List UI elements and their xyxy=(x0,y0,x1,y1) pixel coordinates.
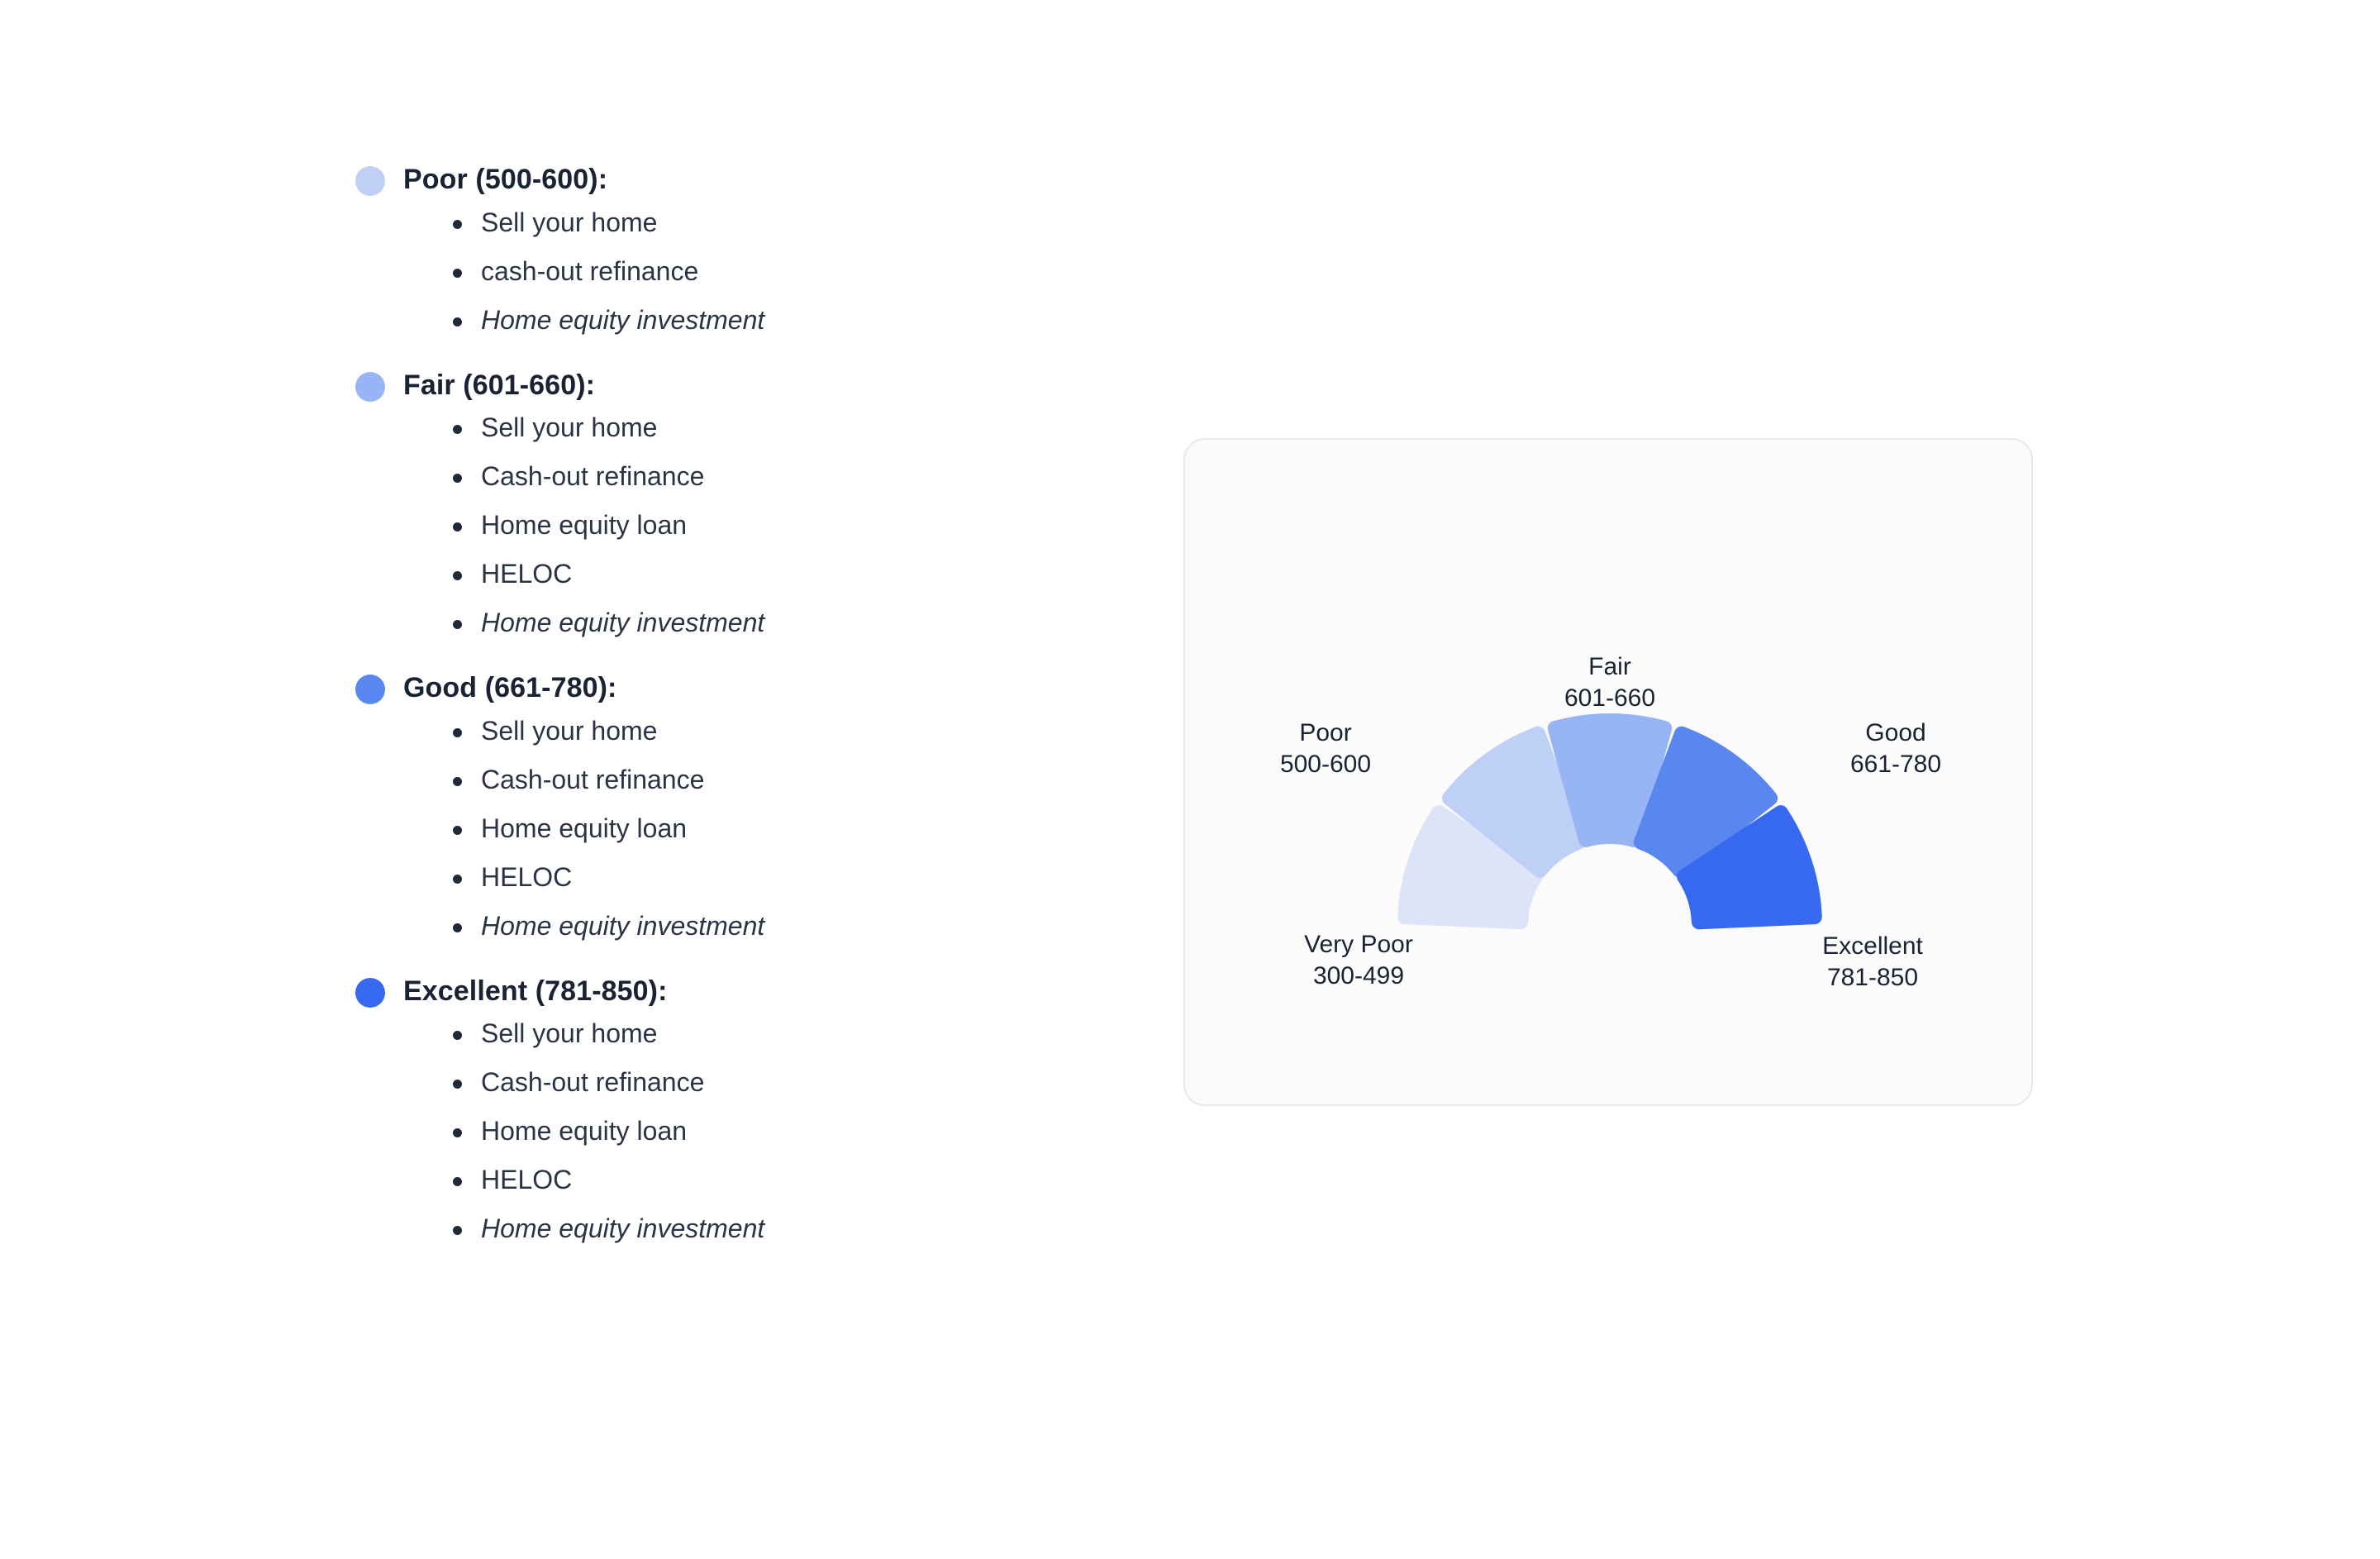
gauge-label-good: Good 661-780 xyxy=(1772,718,2020,781)
list-item: HELOC xyxy=(453,1166,1099,1193)
list-item: Sell your home xyxy=(453,209,1099,236)
list-item: Cash-out refinance xyxy=(453,766,1099,793)
list-item: Home equity loan xyxy=(453,512,1099,538)
credit-tier-recommendation-list: Poor (500-600):Sell your homecash-out re… xyxy=(355,162,1099,1242)
tier-option-list-excellent: Sell your homeCash-out refinanceHome equ… xyxy=(355,1020,1099,1242)
gauge-label-fair-name: Fair xyxy=(1588,653,1631,680)
tier-title-poor: Poor (500-600): xyxy=(403,162,607,198)
list-item: cash-out refinance xyxy=(453,258,1099,284)
gauge-label-excellent-name: Excellent xyxy=(1822,932,1923,960)
list-item: Cash-out refinance xyxy=(453,463,1099,489)
tier-header-good: Good (661-780): xyxy=(355,670,1099,706)
tier-title-fair: Fair (601-660): xyxy=(403,368,595,403)
list-item: Home equity investment xyxy=(453,1215,1099,1242)
gauge-label-very-poor-name: Very Poor xyxy=(1304,931,1413,958)
tier-option-list-fair: Sell your homeCash-out refinanceHome equ… xyxy=(355,414,1099,636)
tier-title-excellent: Excellent (781-850): xyxy=(403,974,668,1009)
tier-header-poor: Poor (500-600): xyxy=(355,162,1099,198)
tier-group-excellent: Excellent (781-850):Sell your homeCash-o… xyxy=(355,974,1099,1242)
tier-group-fair: Fair (601-660):Sell your homeCash-out re… xyxy=(355,368,1099,636)
gauge-segment-group xyxy=(1405,721,1815,922)
list-item: Sell your home xyxy=(453,414,1099,441)
list-item: HELOC xyxy=(453,864,1099,890)
tier-header-excellent: Excellent (781-850): xyxy=(355,974,1099,1009)
gauge-label-good-range: 661-780 xyxy=(1772,749,2020,780)
tier-color-dot-icon-poor xyxy=(355,166,385,196)
tier-group-good: Good (661-780):Sell your homeCash-out re… xyxy=(355,670,1099,939)
gauge-label-very-poor-range: 300-499 xyxy=(1235,961,1483,992)
gauge-label-poor-range: 500-600 xyxy=(1202,749,1449,780)
gauge-label-very-poor: Very Poor 300-499 xyxy=(1235,929,1483,993)
list-item: Home equity loan xyxy=(453,1118,1099,1144)
gauge-label-fair: Fair 601-660 xyxy=(1486,651,1734,715)
gauge-label-excellent: Excellent 781-850 xyxy=(1749,931,1997,994)
list-item: Home equity investment xyxy=(453,307,1099,333)
tier-color-dot-icon-excellent xyxy=(355,978,385,1008)
tier-option-list-good: Sell your homeCash-out refinanceHome equ… xyxy=(355,718,1099,939)
gauge-label-excellent-range: 781-850 xyxy=(1749,962,1997,994)
tier-color-dot-icon-good xyxy=(355,675,385,704)
list-item: Home equity loan xyxy=(453,815,1099,841)
tier-header-fair: Fair (601-660): xyxy=(355,368,1099,403)
list-item: Home equity investment xyxy=(453,913,1099,939)
tier-group-poor: Poor (500-600):Sell your homecash-out re… xyxy=(355,162,1099,333)
list-item: HELOC xyxy=(453,560,1099,587)
list-item: Cash-out refinance xyxy=(453,1069,1099,1095)
gauge-label-good-name: Good xyxy=(1865,719,1925,746)
tier-color-dot-icon-fair xyxy=(355,372,385,402)
credit-score-gauge-card: Poor 500-600 Fair 601-660 Good 661-780 V… xyxy=(1183,438,2033,1106)
tier-title-good: Good (661-780): xyxy=(403,670,616,706)
list-item: Home equity investment xyxy=(453,609,1099,636)
list-item: Sell your home xyxy=(453,1020,1099,1046)
gauge-label-poor-name: Poor xyxy=(1299,719,1351,746)
list-item: Sell your home xyxy=(453,718,1099,744)
gauge-label-poor: Poor 500-600 xyxy=(1202,718,1449,781)
gauge-label-fair-range: 601-660 xyxy=(1486,683,1734,714)
tier-option-list-poor: Sell your homecash-out refinanceHome equ… xyxy=(355,209,1099,333)
